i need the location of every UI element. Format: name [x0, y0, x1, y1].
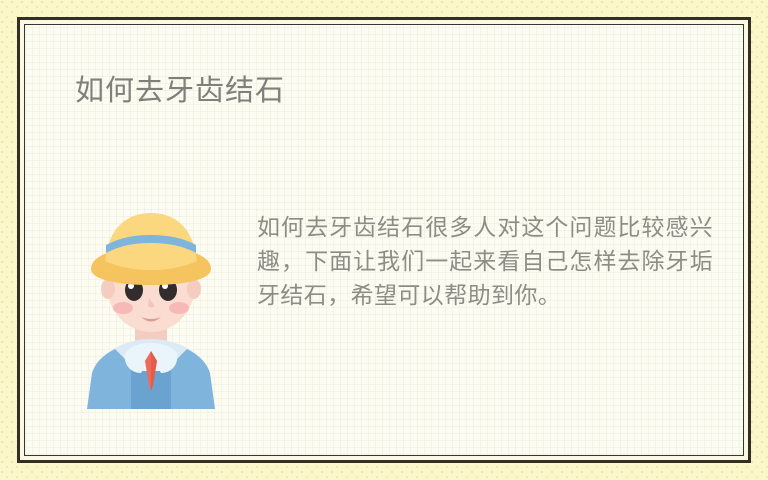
article-content-row: 如何去牙齿结石很多人对这个问题比较感兴趣，下面让我们一起来看自己怎样去除牙垢牙结… — [75, 193, 713, 409]
boy-illustration-icon — [75, 193, 227, 409]
article-body-text: 如何去牙齿结石很多人对这个问题比较感兴趣，下面让我们一起来看自己怎样去除牙垢牙结… — [257, 193, 713, 313]
page-title: 如何去牙齿结石 — [75, 67, 285, 109]
article-card: 如何去牙齿结石 — [24, 24, 744, 456]
page-background: 如何去牙齿结石 — [0, 0, 768, 480]
article-frame-outer: 如何去牙齿结石 — [17, 17, 751, 463]
